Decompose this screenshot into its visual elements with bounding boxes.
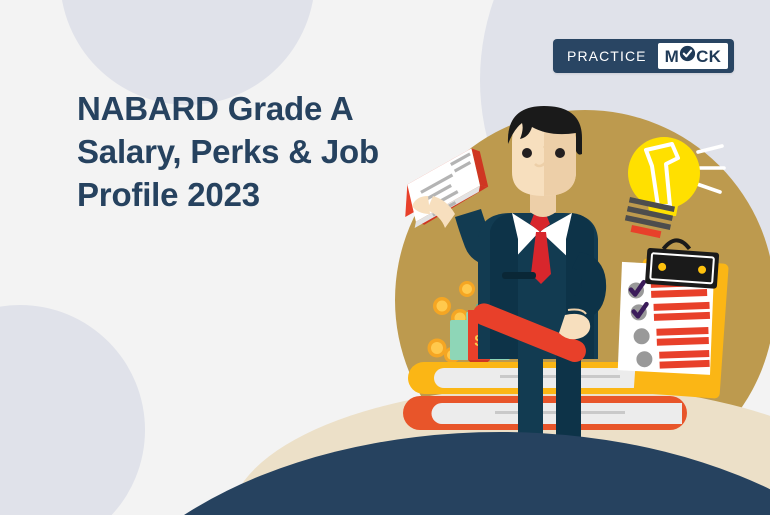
- coins-icon: [428, 281, 547, 363]
- decorative-circle-left: [0, 305, 145, 515]
- practicemock-logo[interactable]: PRACTICE M CK: [553, 39, 734, 73]
- logo-mock-prefix: M: [665, 48, 679, 65]
- svg-text:$: $: [512, 337, 518, 349]
- page-title: NABARD Grade A Salary, Perks & Job Profi…: [77, 87, 437, 216]
- logo-practice-text: PRACTICE: [553, 48, 658, 64]
- check-circle-icon: [679, 45, 696, 67]
- navy-wave: [70, 432, 770, 515]
- svg-text:$: $: [475, 333, 484, 350]
- character-right-leg: [556, 352, 581, 460]
- decorative-sand-ellipse: [230, 385, 770, 515]
- character-left-leg: [518, 352, 543, 460]
- banner-root: $ $: [0, 0, 770, 515]
- diploma-scroll-icon: [470, 300, 590, 365]
- money-stack-icon: $ $: [428, 281, 547, 370]
- logo-mock-plate: M CK: [658, 43, 729, 69]
- character-left-arm: [455, 209, 520, 267]
- book-stack-icon: [403, 362, 687, 430]
- logo-mock-suffix: CK: [696, 48, 721, 65]
- character-pocket: [502, 272, 536, 279]
- character-right-hand: [559, 314, 590, 339]
